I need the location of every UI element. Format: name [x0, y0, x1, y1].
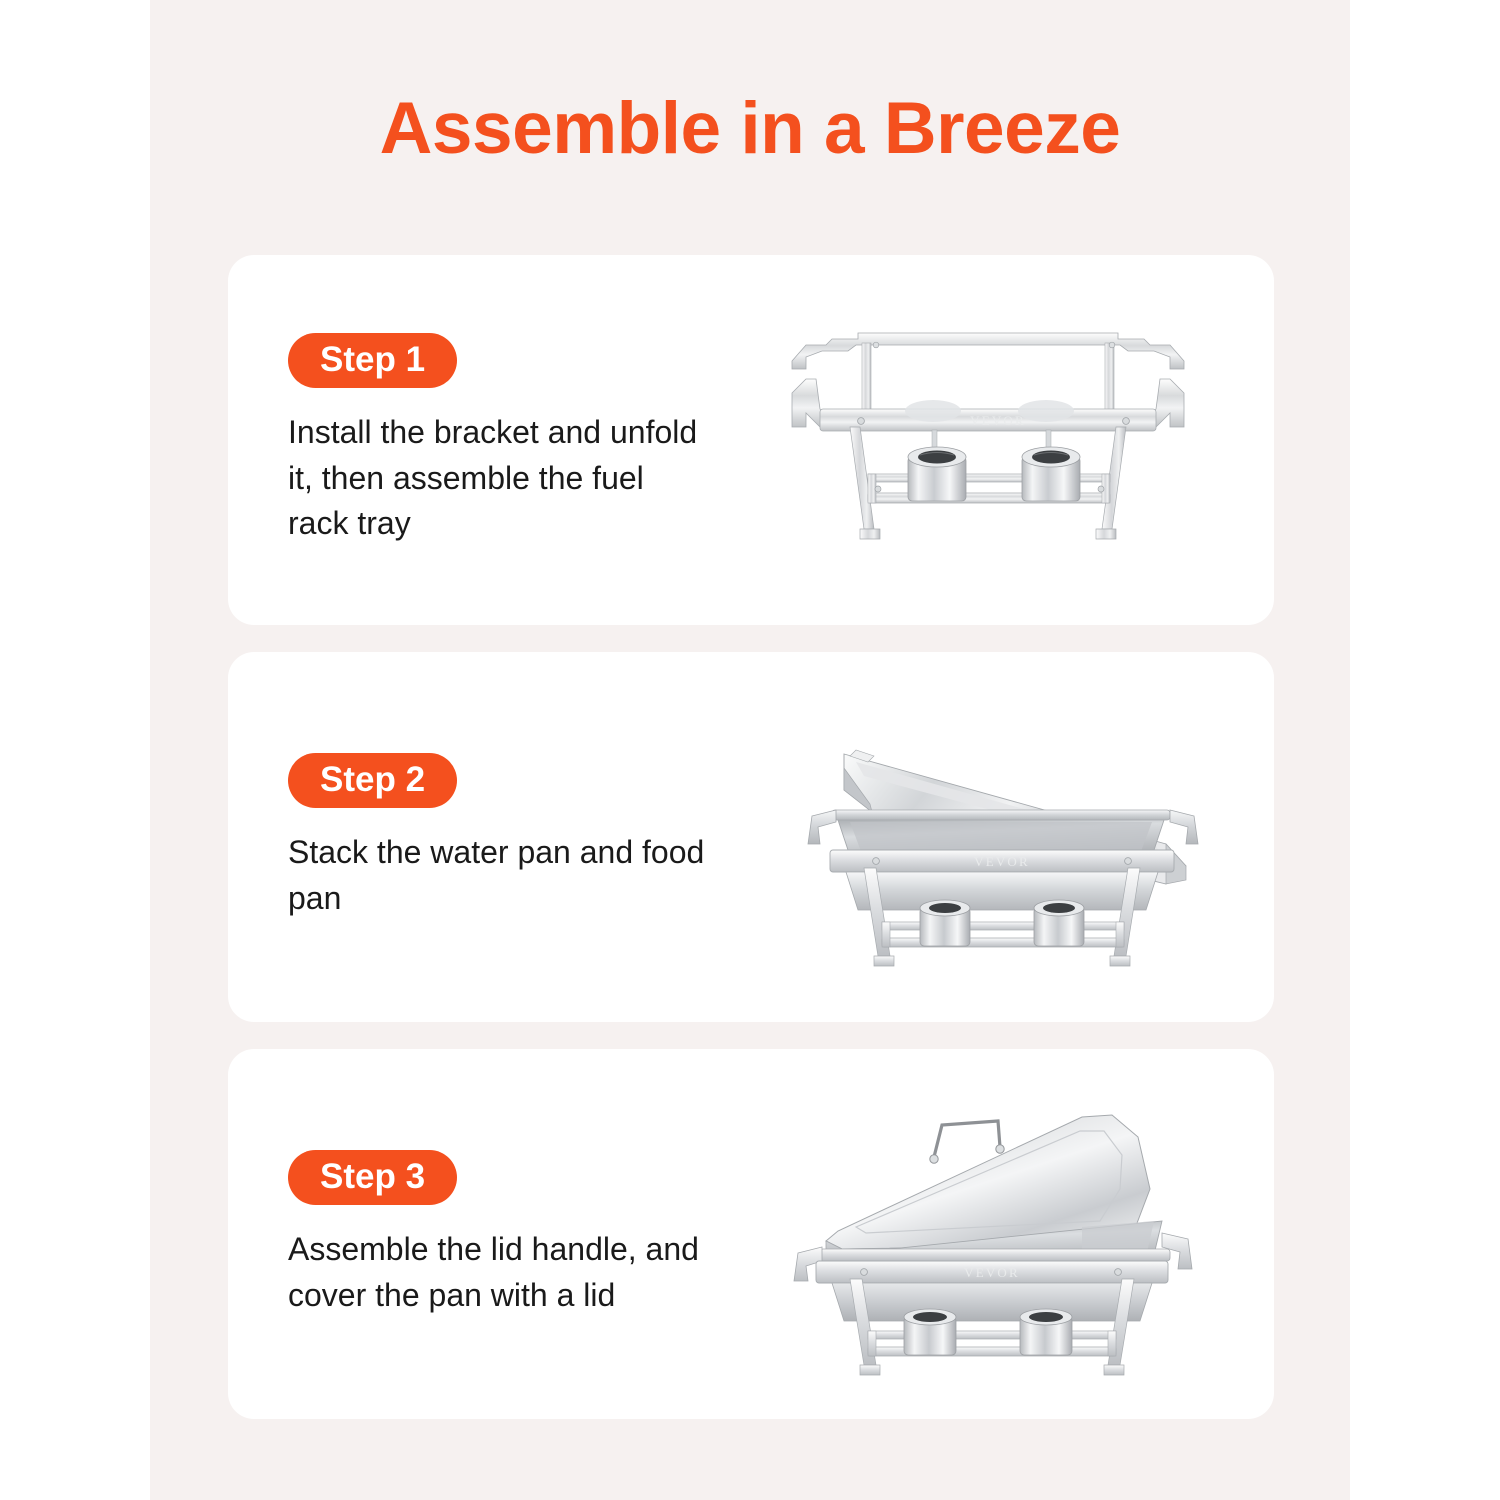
brand-mark: VEVOR: [974, 854, 1030, 869]
fuel-cup: [1034, 900, 1084, 946]
fuel-cup: [1020, 1309, 1072, 1355]
chafing-dish-with-lid-icon: VEVOR: [782, 1081, 1222, 1393]
page-title: Assemble in a Breeze: [150, 92, 1350, 165]
page-root: Assemble in a Breeze Step 1 Install the …: [0, 0, 1500, 1500]
step-text-column: Step 3 Assemble the lid handle, and cove…: [228, 1150, 708, 1318]
step-card: Step 3 Assemble the lid handle, and cove…: [228, 1049, 1274, 1419]
chafing-dish-pans-icon: VEVOR: [794, 694, 1214, 986]
brand-mark: VEVOR: [970, 413, 1026, 428]
step-badge: Step 3: [288, 1150, 457, 1205]
fuel-cup: [904, 1309, 956, 1355]
fuel-cup: [920, 900, 970, 946]
step-text-column: Step 1 Install the bracket and unfold it…: [228, 333, 708, 546]
step-image-column: VEVOR: [708, 1049, 1274, 1419]
brand-mark: VEVOR: [964, 1265, 1020, 1280]
step-badge: Step 2: [288, 753, 457, 808]
fuel-cup: [908, 447, 966, 501]
step-image-column: VEVOR: [708, 652, 1274, 1022]
step-description: Assemble the lid handle, and cover the p…: [288, 1227, 708, 1318]
step-card: Step 2 Stack the water pan and food pan: [228, 652, 1274, 1022]
step-image-column: VEVOR: [708, 255, 1274, 625]
step-card: Step 1 Install the bracket and unfold it…: [228, 255, 1274, 625]
fuel-cup: [1022, 447, 1080, 501]
step-text-column: Step 2 Stack the water pan and food pan: [228, 753, 708, 921]
lid-handle-icon: [930, 1121, 1004, 1163]
step-description: Install the bracket and unfold it, then …: [288, 410, 708, 546]
steps-list: Step 1 Install the bracket and unfold it…: [228, 255, 1274, 1446]
step-badge: Step 1: [288, 333, 457, 388]
chafing-dish-frame-icon: VEVOR: [768, 317, 1208, 567]
step-description: Stack the water pan and food pan: [288, 830, 708, 921]
